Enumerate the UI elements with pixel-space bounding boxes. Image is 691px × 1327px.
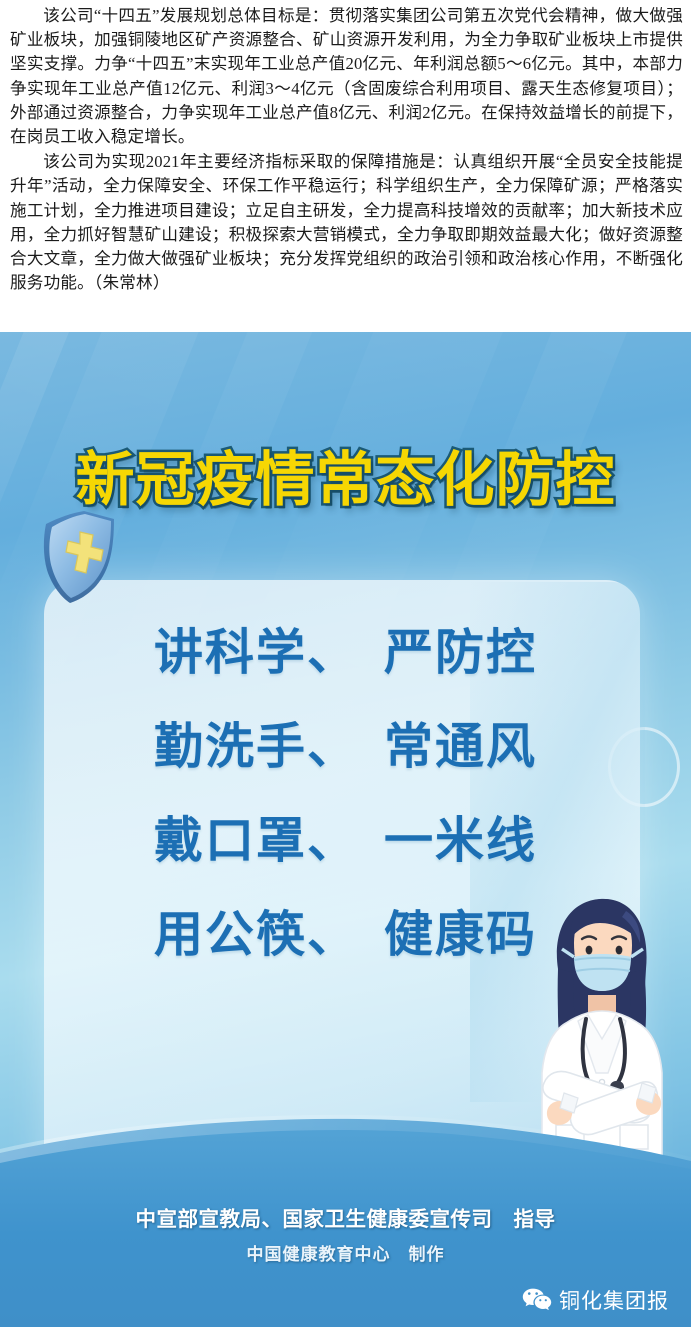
slogan-line: 勤洗手、常通风 [0, 722, 691, 771]
slogan-left: 讲科学、 [154, 624, 358, 681]
poster-footer: 中宣部宣教局、国家卫生健康委宣传司 指导 中国健康教育中心 制作 [0, 1202, 691, 1265]
slogan-right: 常通风 [384, 718, 537, 775]
article-paragraph: 该公司为实现2021年主要经济指标采取的保障措施是：认真组织开展“全员安全技能提… [10, 150, 683, 295]
wechat-account-badge[interactable]: 铜化集团报 [522, 1285, 669, 1315]
shield-cross-icon [38, 508, 122, 604]
slogan-right: 严防控 [384, 624, 537, 681]
covid-prevention-poster: 新冠疫情常态化防控 讲科学、严防控 勤洗手、常通风 戴口罩、一米线 [0, 332, 691, 1327]
footer-production: 中国健康教育中心 制作 [0, 1240, 691, 1265]
slogan-line: 讲科学、严防控 [0, 628, 691, 677]
slogan-left: 勤洗手、 [154, 718, 358, 775]
slogan-left: 用公筷、 [154, 906, 358, 963]
poster-title: 新冠疫情常态化防控 [75, 450, 615, 509]
slogan-left: 戴口罩、 [154, 812, 358, 869]
footer-guidance: 中宣部宣教局、国家卫生健康委宣传司 指导 [0, 1202, 691, 1232]
wechat-icon [522, 1287, 552, 1313]
article-paragraph: 该公司“十四五”发展规划总体目标是：贯彻落实集团公司第五次党代会精神，做大做强矿… [10, 4, 683, 149]
poster-title-area: 新冠疫情常态化防控 [0, 450, 691, 509]
wechat-account-name: 铜化集团报 [559, 1285, 669, 1315]
slogan-right: 一米线 [384, 812, 537, 869]
slogan-line: 戴口罩、一米线 [0, 816, 691, 865]
article-body: 该公司“十四五”发展规划总体目标是：贯彻落实集团公司第五次党代会精神，做大做强矿… [0, 0, 691, 295]
